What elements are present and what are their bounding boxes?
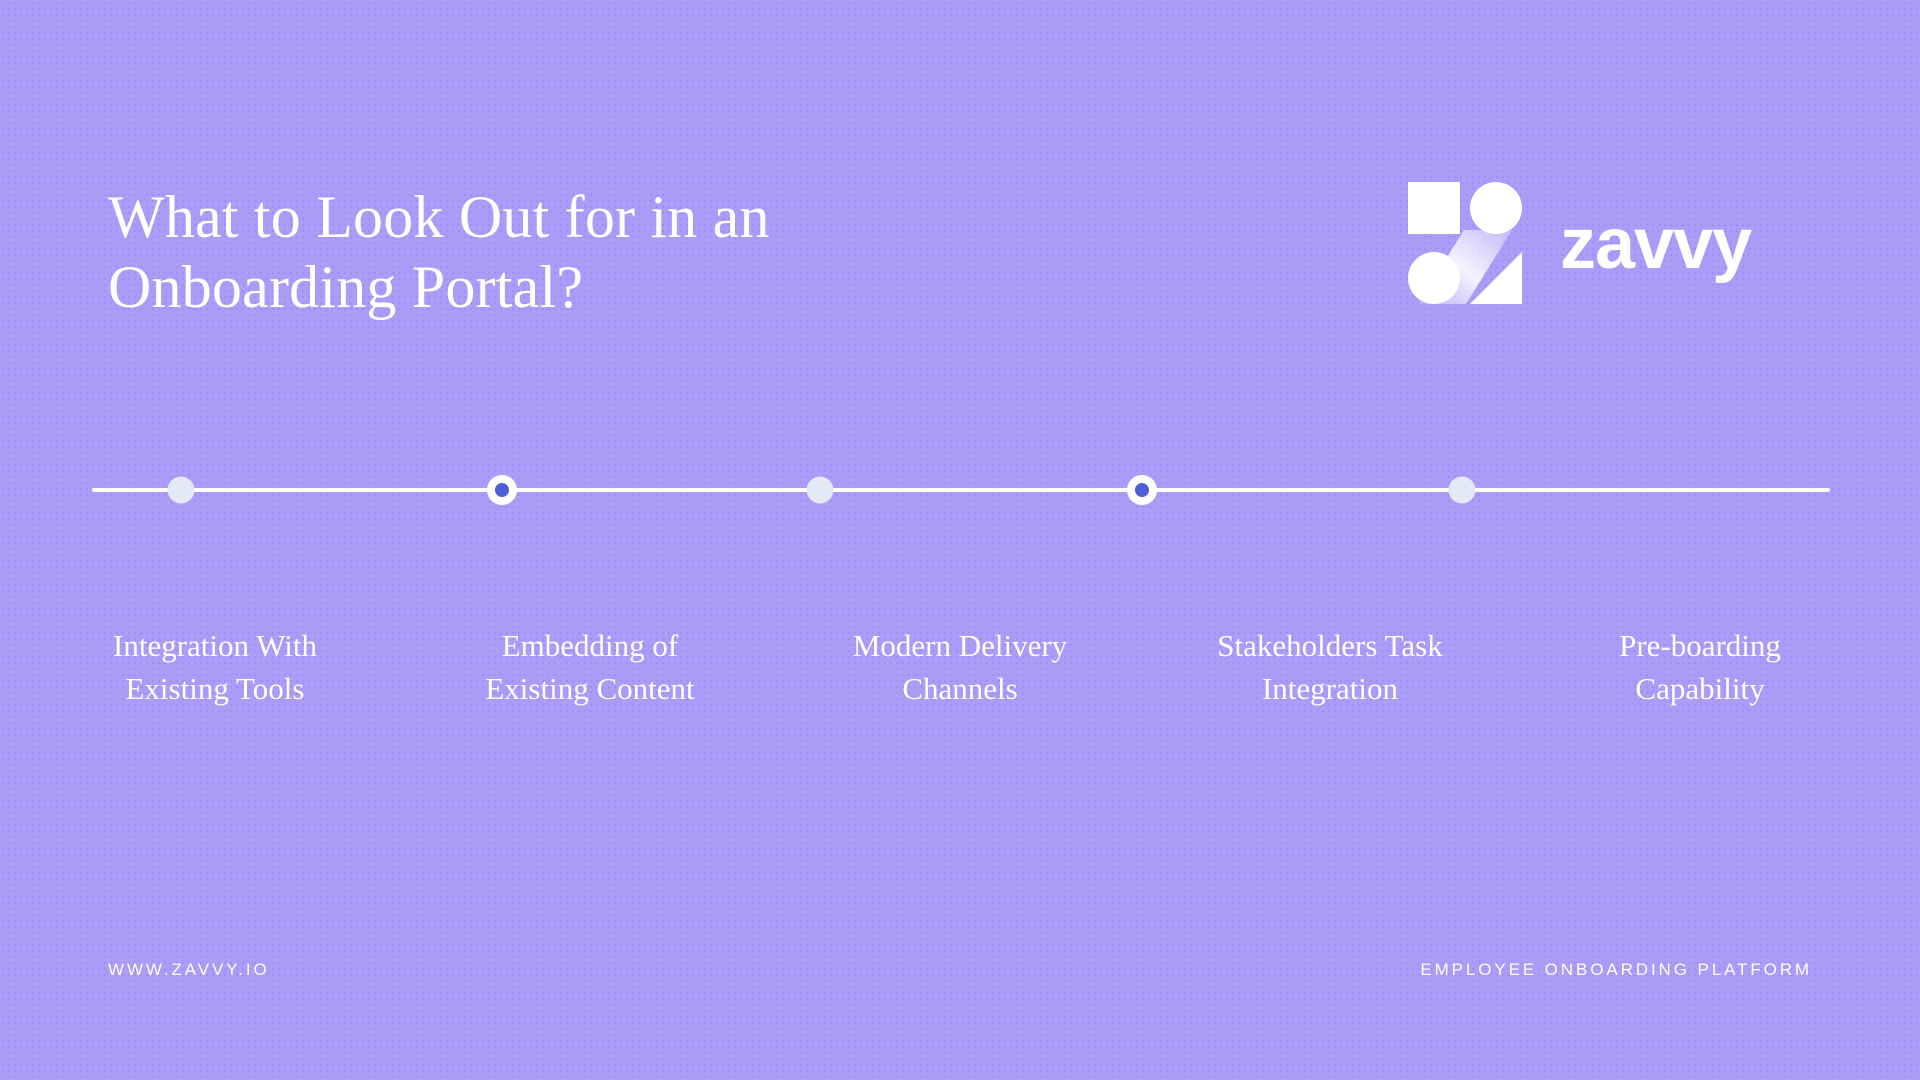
- timeline-step-labels: Integration With Existing ToolsEmbedding…: [0, 625, 1920, 745]
- slide-canvas: What to Look Out for in an Onboarding Po…: [0, 0, 1920, 1080]
- timeline-step-label-4: Stakeholders Task Integration: [1165, 625, 1495, 711]
- timeline-dot-active-icon: [1127, 475, 1157, 505]
- timeline-dot-icon: [167, 477, 194, 504]
- page-title: What to Look Out for in an Onboarding Po…: [108, 182, 1048, 322]
- timeline-step-label-2: Embedding of Existing Content: [425, 625, 755, 711]
- timeline-node-core: [1135, 483, 1149, 497]
- timeline-node-1[interactable]: [167, 477, 194, 504]
- brand-logo[interactable]: zavvy: [1404, 178, 1751, 304]
- timeline: [92, 455, 1830, 525]
- title-block: What to Look Out for in an Onboarding Po…: [108, 182, 1048, 322]
- timeline-node-core: [495, 483, 509, 497]
- timeline-node-2[interactable]: [487, 475, 517, 505]
- timeline-node-5[interactable]: [1448, 477, 1475, 504]
- timeline-track: [92, 488, 1830, 492]
- brand-wordmark: zavvy: [1560, 208, 1751, 280]
- footer-tagline: EMPLOYEE ONBOARDING PLATFORM: [1420, 960, 1812, 980]
- timeline-dot-icon: [807, 477, 834, 504]
- timeline-node-3[interactable]: [807, 477, 834, 504]
- footer-website[interactable]: WWW.ZAVVY.IO: [108, 960, 270, 980]
- timeline-step-label-3: Modern Delivery Channels: [795, 625, 1125, 711]
- zavvy-logo-mark-icon: [1404, 178, 1526, 304]
- timeline-dot-active-icon: [487, 475, 517, 505]
- timeline-step-label-5: Pre-boarding Capability: [1535, 625, 1865, 711]
- timeline-dot-icon: [1448, 477, 1475, 504]
- timeline-node-4[interactable]: [1127, 475, 1157, 505]
- timeline-step-label-1: Integration With Existing Tools: [50, 625, 380, 711]
